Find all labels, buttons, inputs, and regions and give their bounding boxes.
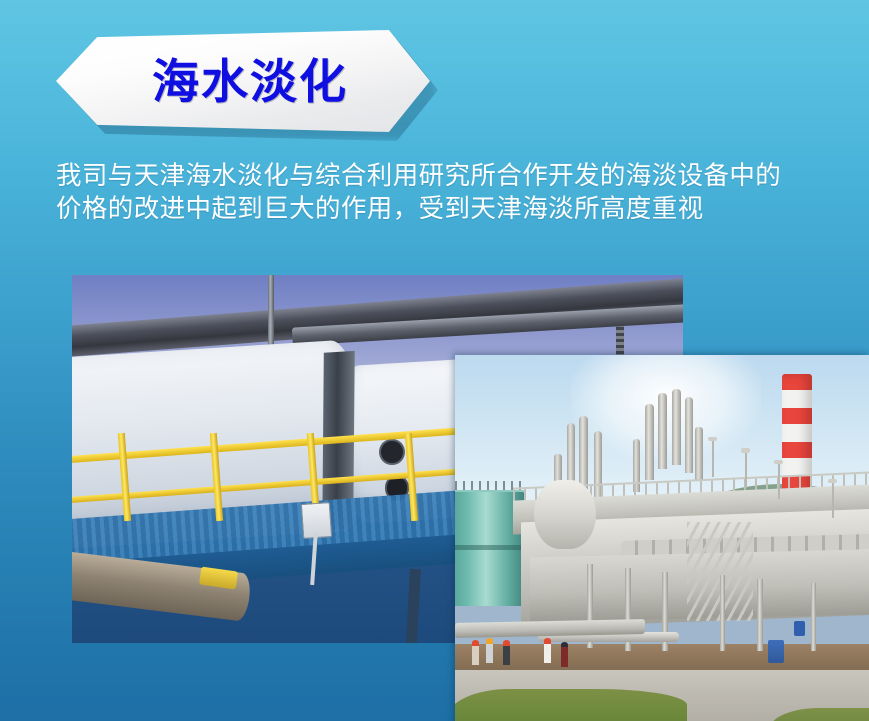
photo2-light-pole <box>712 439 714 477</box>
photo2-worker-body <box>486 644 493 664</box>
photo2-small-column <box>695 427 702 480</box>
photo2-head-vessel <box>534 480 596 548</box>
photo2-worker-body <box>472 646 479 666</box>
photo2-light-head <box>828 479 837 484</box>
title-badge: 海水淡化 <box>56 30 430 132</box>
photo2-worker-body <box>544 644 551 664</box>
photo2-tank-band <box>455 545 525 550</box>
photo2-grass-foreground <box>455 689 687 721</box>
photo2-column <box>685 397 694 473</box>
photo2-light-pole <box>778 461 780 499</box>
page-title: 海水淡化 <box>152 59 348 106</box>
photo2-blue-container <box>768 640 785 663</box>
photo2-worker-body <box>503 646 510 666</box>
photo2-light-pole <box>832 480 834 518</box>
photo2-light-head <box>708 437 717 442</box>
photo2-light-pole <box>745 450 747 488</box>
photo2-worker <box>486 638 493 663</box>
photo2-column <box>579 416 588 492</box>
photo2-riser-pipe <box>720 575 725 651</box>
photo2-worker <box>561 642 568 667</box>
body-line-2: 价格的改进中起到巨大的作用，受到天津海淡所高度重视 <box>56 193 869 226</box>
photo2-worker-body <box>561 647 568 667</box>
photo1-manhole-1 <box>381 441 403 464</box>
slide-canvas: 海水淡化 我司与天津海水淡化与综合利用研究所合作开发的海淡设备中的 价格的改进中… <box>0 0 869 721</box>
photo2-light-head <box>741 448 750 453</box>
photo2-worker <box>503 640 510 665</box>
photo2-column <box>645 404 654 480</box>
title-badge-plate: 海水淡化 <box>56 30 430 132</box>
photo2-column <box>672 389 681 465</box>
photo2-worker <box>472 640 479 665</box>
photo2-column <box>658 393 667 469</box>
body-line-1: 我司与天津海水淡化与综合利用研究所合作开发的海淡设备中的 <box>56 160 869 193</box>
photo2-riser-pipe <box>811 583 816 651</box>
photo2-light-head <box>774 460 783 465</box>
photo2-site-sign <box>794 621 805 636</box>
photo2-worker <box>544 638 551 663</box>
photo2-riser-pipe <box>757 579 762 651</box>
body-paragraph: 我司与天津海水淡化与综合利用研究所合作开发的海淡设备中的 价格的改进中起到巨大的… <box>56 160 869 226</box>
photo-desalination-plant-overview <box>455 355 869 721</box>
